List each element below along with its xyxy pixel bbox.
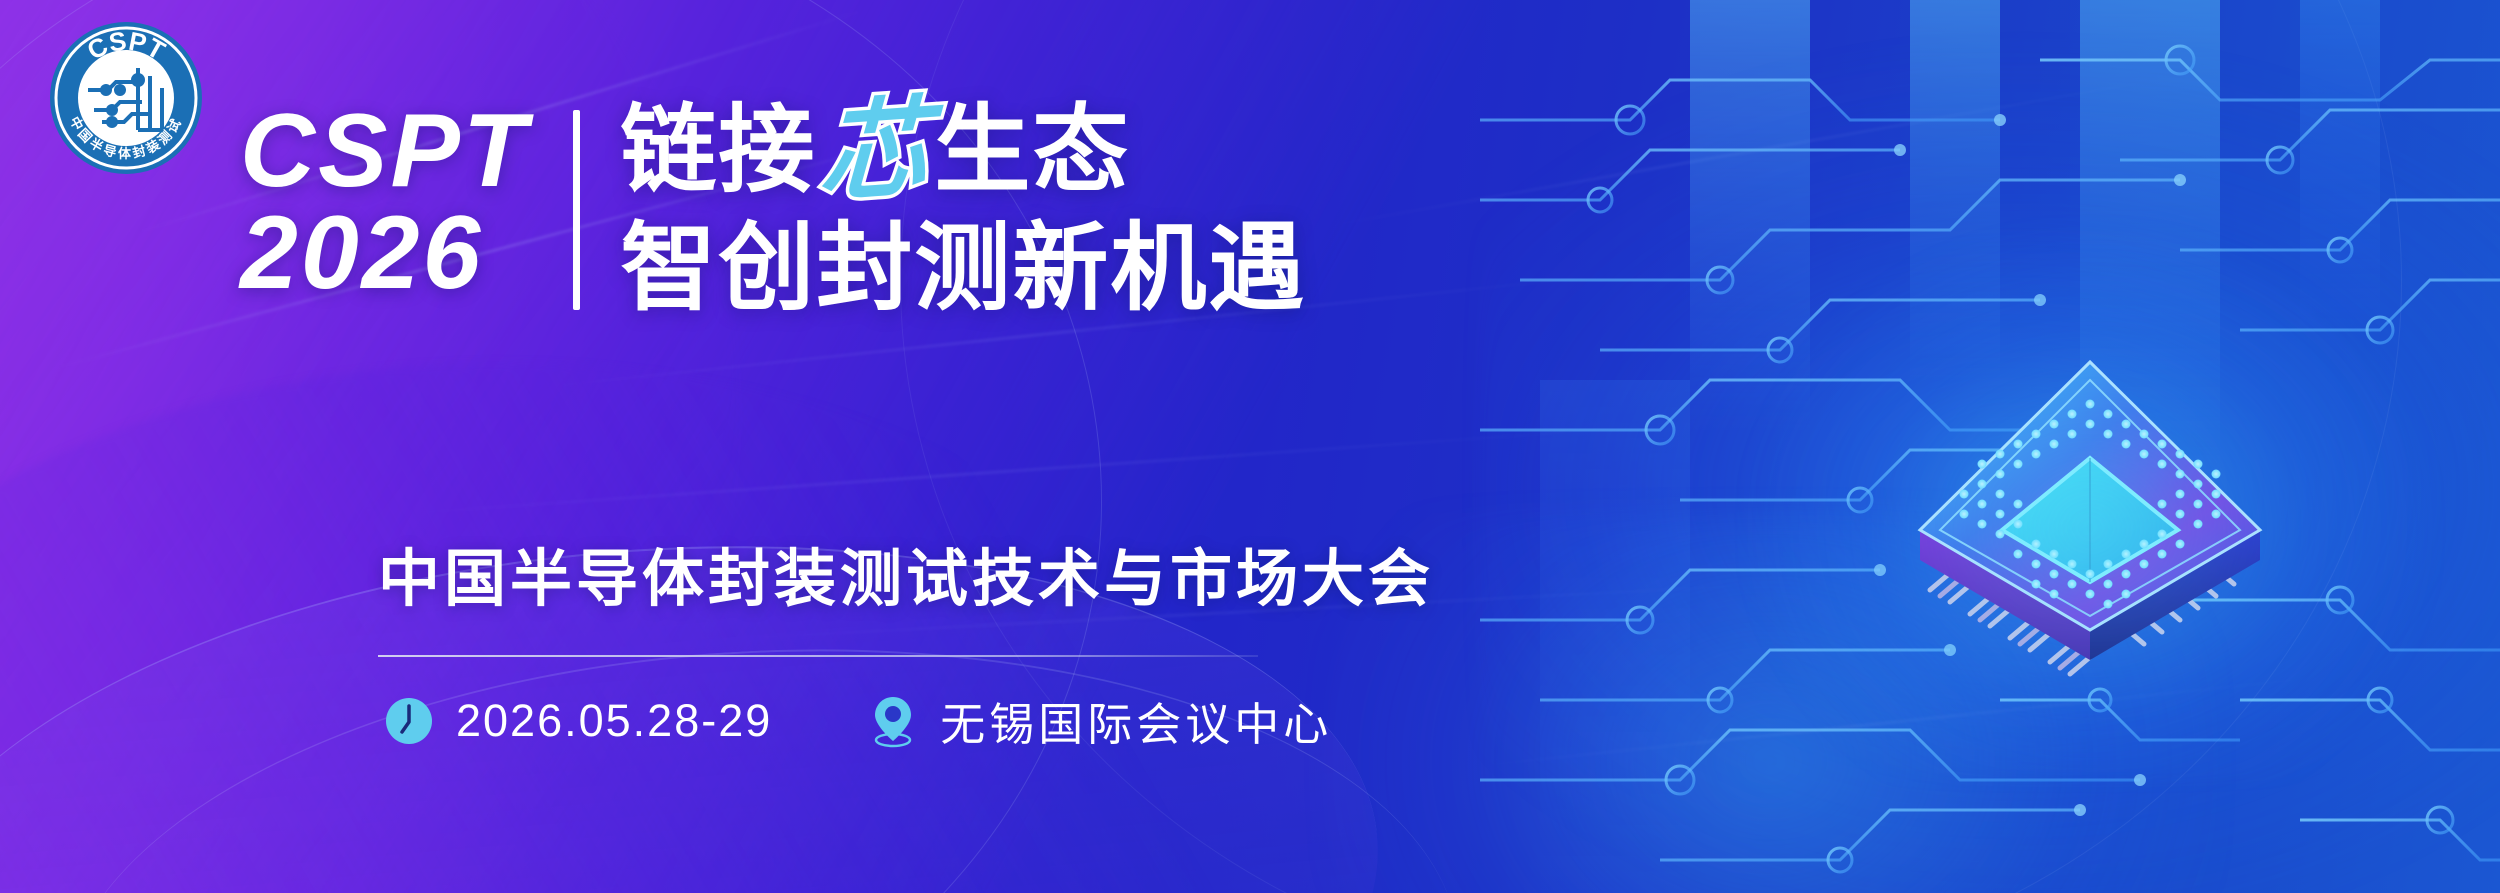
event-date-item: 2026.05.28-29 xyxy=(384,695,772,747)
event-meta-row: 2026.05.28-29 无锡国际会议中心 xyxy=(384,688,1332,753)
headline-brush-character: 芯 xyxy=(819,92,933,210)
event-location: 无锡国际会议中心 xyxy=(940,688,1332,753)
headline-line1-part2: 生态 xyxy=(934,102,1130,200)
event-subtitle: 中国半导体封装测试技术与市场大会 xyxy=(378,528,1434,618)
conference-banner: CSPT 中国半导体封装测试 CSPT 2026 链接 芯 生态 xyxy=(0,0,2500,893)
event-acronym: CSPT xyxy=(240,104,529,200)
headline-line1-part1: 链接 xyxy=(620,102,816,200)
headline-line-2: 智创封测新机遇 xyxy=(620,220,1306,318)
vertical-divider xyxy=(573,110,580,310)
clock-icon xyxy=(384,696,434,746)
location-pin-icon xyxy=(868,693,918,749)
headline-line-1: 链接 芯 生态 xyxy=(620,96,1306,206)
event-date: 2026.05.28-29 xyxy=(456,695,772,747)
horizontal-divider xyxy=(378,655,1258,657)
banner-content: CSPT 2026 链接 芯 生态 智创封测新机遇 中国半导体封装测试技术与市场… xyxy=(0,0,2500,893)
headline-block: 链接 芯 生态 智创封测新机遇 xyxy=(620,96,1306,318)
event-location-item: 无锡国际会议中心 xyxy=(868,688,1332,753)
acronym-year-block: CSPT 2026 xyxy=(240,96,529,301)
title-row: CSPT 2026 链接 芯 生态 智创封测新机遇 xyxy=(240,96,1306,318)
event-year: 2026 xyxy=(240,206,529,302)
